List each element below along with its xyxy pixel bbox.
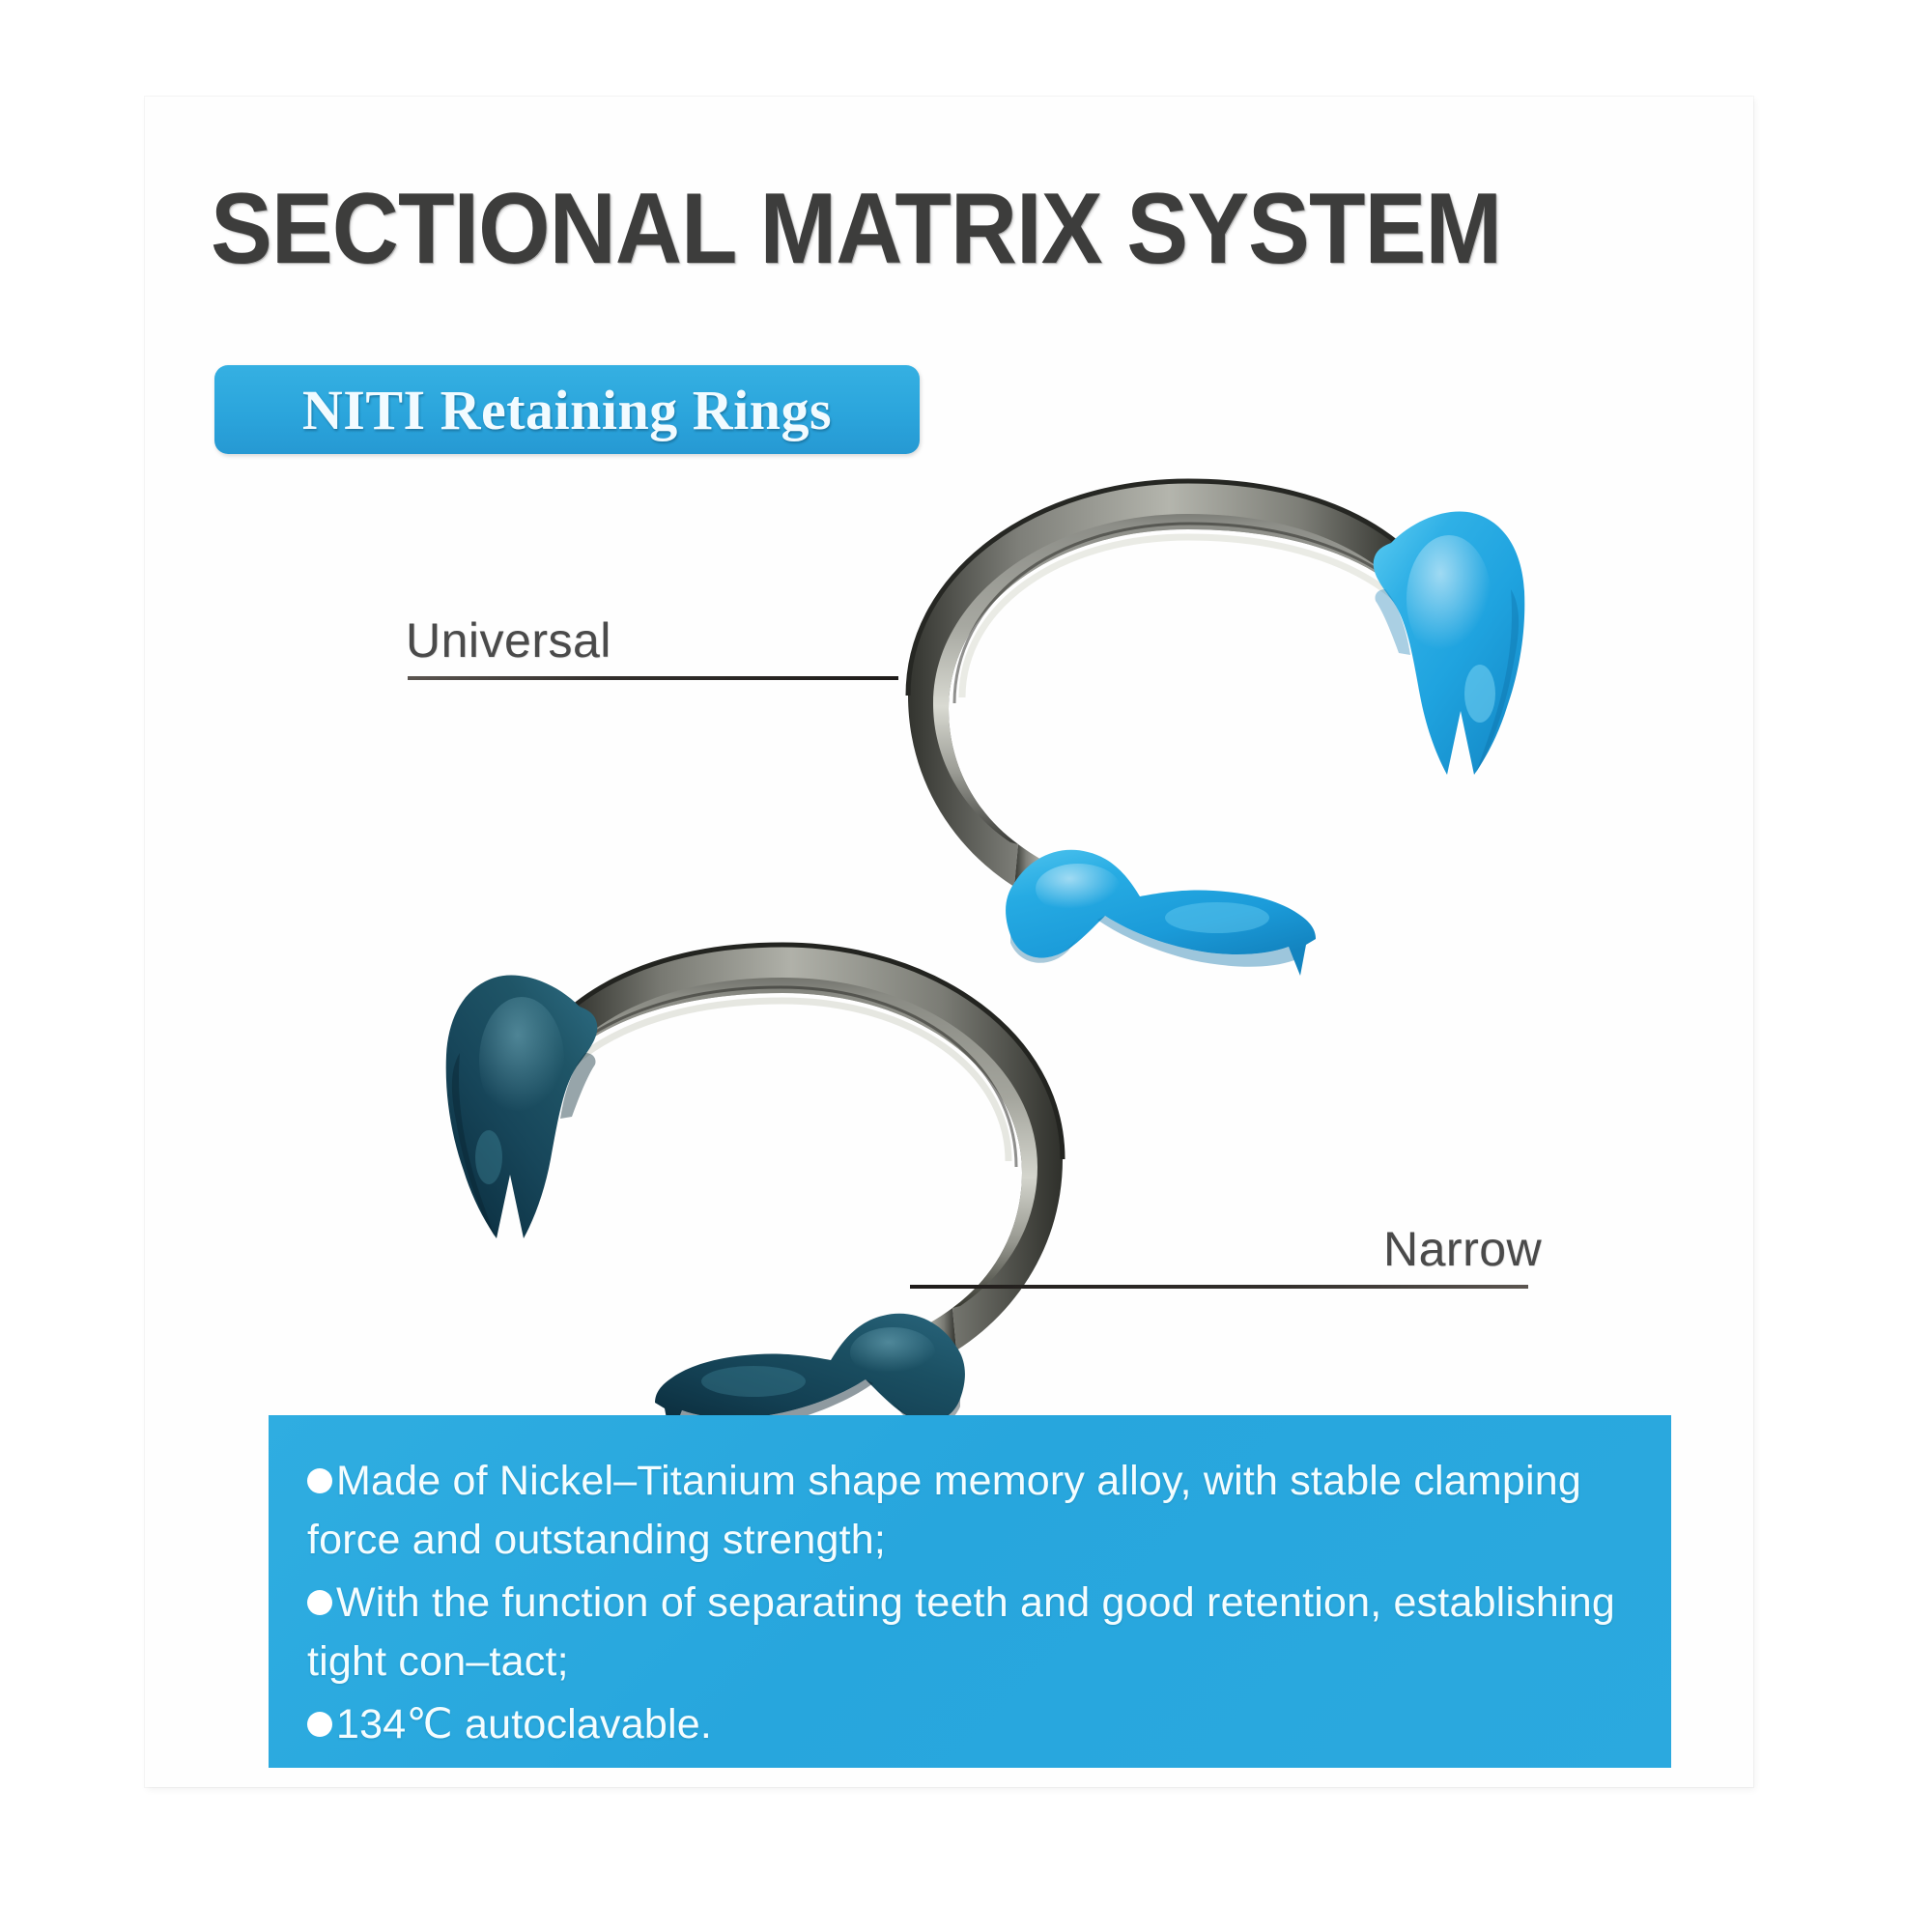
silicone-tine-upper-universal (1374, 512, 1525, 775)
features-list: Made of Nickel–Titanium shape memory all… (269, 1415, 1671, 1754)
filled-circle-bullet-icon (307, 1590, 332, 1615)
metal-niti-ring-narrow (560, 945, 1063, 1372)
page-title: SECTIONAL MATRIX SYSTEM (211, 179, 1366, 279)
feature-text: 134℃ autoclavable. (336, 1701, 712, 1747)
infographic-root: SECTIONAL MATRIX SYSTEM NITI Retaining R… (0, 0, 1932, 1932)
filled-circle-bullet-icon (307, 1712, 332, 1737)
callout-label-universal: Universal (406, 612, 611, 668)
list-item: With the function of separating teeth an… (307, 1574, 1627, 1691)
list-item: Made of Nickel–Titanium shape memory all… (307, 1452, 1627, 1570)
callout-label-narrow: Narrow (1383, 1221, 1542, 1277)
subtitle-badge: NITI Retaining Rings (214, 365, 920, 454)
subtitle-badge-label: NITI Retaining Rings (302, 378, 832, 442)
feature-text: With the function of separating teeth an… (307, 1579, 1615, 1685)
metal-niti-ring-universal (908, 481, 1410, 908)
callout-leader-line-narrow (910, 1285, 1528, 1289)
product-image-universal-ring (869, 454, 1584, 985)
silicone-tine-upper-narrow (446, 976, 598, 1238)
feature-text: Made of Nickel–Titanium shape memory all… (307, 1458, 1581, 1563)
list-item: 134℃ autoclavable. (307, 1695, 1627, 1754)
product-image-narrow-ring (386, 918, 1101, 1459)
features-panel: Made of Nickel–Titanium shape memory all… (269, 1415, 1671, 1768)
filled-circle-bullet-icon (307, 1468, 332, 1493)
callout-leader-line-universal (408, 676, 898, 680)
